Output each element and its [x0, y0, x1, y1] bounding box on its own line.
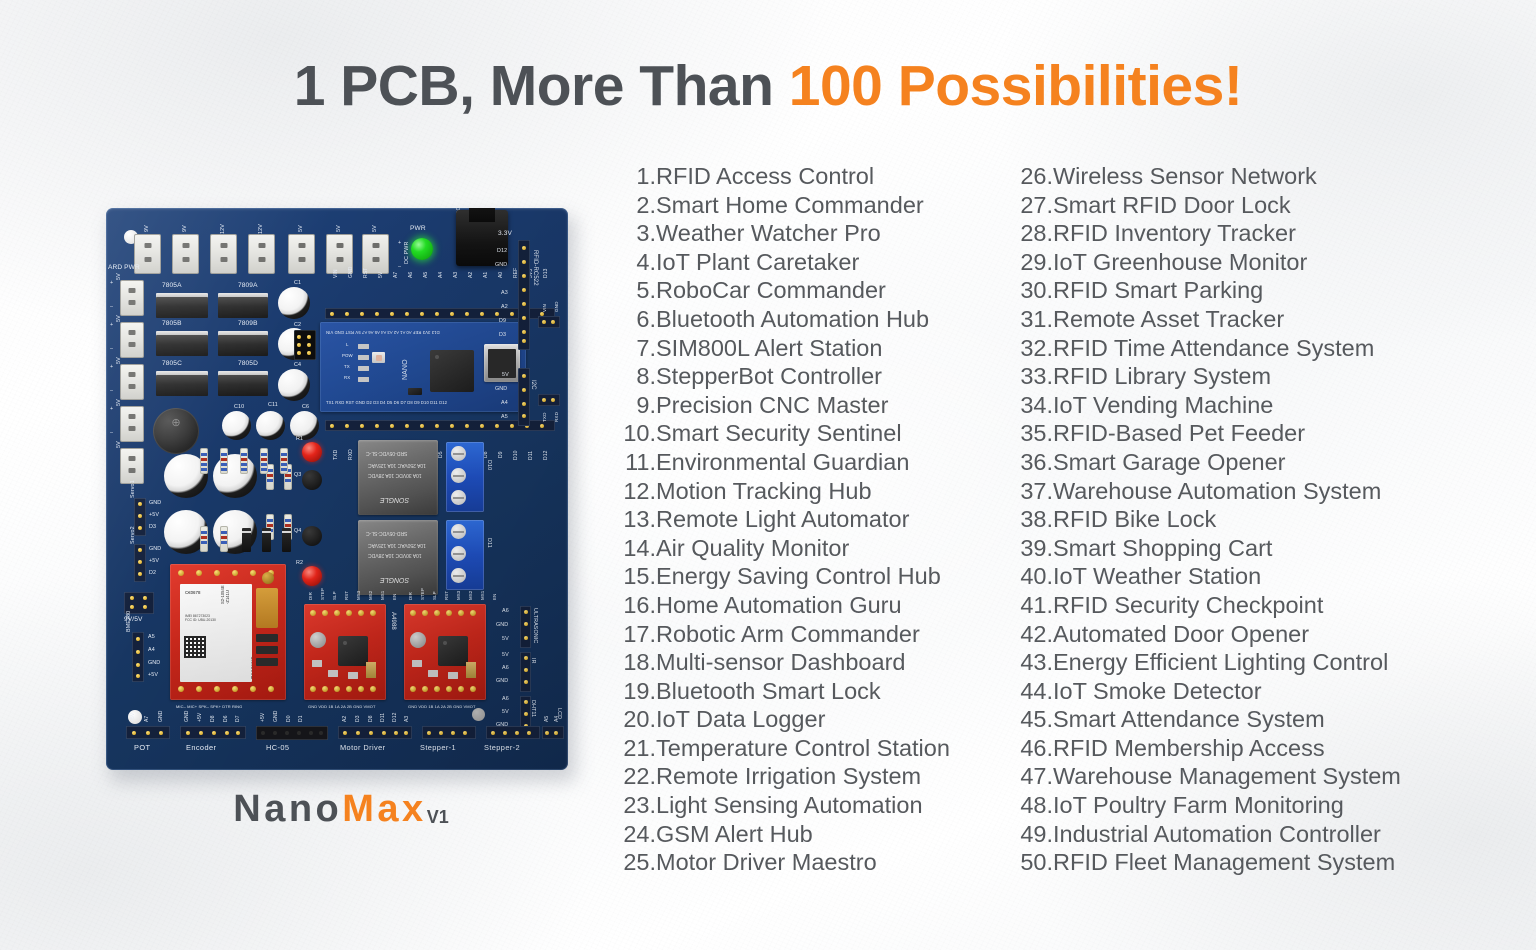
silk-txd: TXD: [542, 413, 547, 423]
list-item-label: Energy Efficient Lighting Control: [1053, 648, 1388, 677]
title-part-orange: 100 Possibilities!: [789, 54, 1243, 118]
silk-ms2: MS2: [368, 591, 373, 600]
silk-servo1: Servo1: [130, 480, 136, 498]
silk-stepper-1: Stepper-1: [420, 743, 456, 752]
list-item-label: Temperature Control Station: [656, 734, 950, 763]
list-item-label: Wireless Sensor Network: [1053, 162, 1317, 191]
pin-header-txd-rxd: [538, 394, 560, 406]
silk-a7: A7: [144, 716, 150, 722]
pin-header-motor-driver[interactable]: [338, 726, 412, 739]
list-item-label: Remote Light Automator: [656, 505, 909, 534]
dc-power-jack: [456, 210, 508, 266]
silk-d10: D10: [513, 451, 519, 460]
list-item-label: IoT Smoke Detector: [1053, 677, 1262, 706]
list-item: 9.Precision CNC Master: [612, 391, 962, 420]
jumper-block[interactable]: [294, 330, 316, 360]
list-item-number: 20.: [612, 705, 656, 734]
pin-header-i2c[interactable]: [518, 368, 530, 426]
relay-brand: SONGLE: [380, 576, 409, 583]
list-item-label: RFID Fleet Management System: [1053, 848, 1395, 877]
list-item-label: RFID Smart Parking: [1053, 276, 1263, 305]
list-item-label: IoT Data Logger: [656, 705, 825, 734]
silk-5v: 5V: [372, 225, 378, 232]
silk-ir: IR: [530, 658, 536, 664]
list-item: 5.RoboCar Commander: [612, 276, 962, 305]
list-item: 2.Smart Home Commander: [612, 191, 962, 220]
silk-d5: D5: [438, 451, 444, 458]
pin-header-stepper-2[interactable]: [486, 726, 540, 739]
silk-a2: A2: [501, 304, 508, 310]
list-item: 27.Smart RFID Door Lock: [1009, 191, 1359, 220]
silk-sim-pins: MIC– MIC+ SPK– SPK+ DTR RING: [176, 704, 242, 709]
silk-d9: D9: [498, 451, 504, 458]
voltage-regulator: [218, 335, 268, 356]
silk-led-tx: TX: [344, 364, 350, 369]
silk-vin: VIN: [333, 269, 339, 278]
list-item-number: 9.: [612, 391, 656, 420]
silk-en: EN: [492, 594, 497, 600]
silk-a5: A5: [544, 716, 550, 722]
list-item: 16.Home Automation Guru: [612, 591, 962, 620]
list-item-number: 36.: [1009, 448, 1053, 477]
silk-encoder: Encoder: [186, 743, 216, 752]
list-item-label: IoT Vending Machine: [1053, 391, 1273, 420]
silk-stepper-bottom-1: GND VDD 1B 1A 2A 2B GND VMOT: [308, 704, 376, 709]
list-item-label: Bluetooth Automation Hub: [656, 305, 929, 334]
pcb-board-image: 9V 9V 12V 12V 5V 5V 5V ARD PWR PWR DC PW…: [106, 208, 576, 783]
silk-i2c: I2C: [530, 380, 536, 390]
silk-5v: +5V: [260, 713, 266, 722]
list-item: 46.RFID Membership Access: [1009, 734, 1359, 763]
list-item-number: 6.: [612, 305, 656, 334]
terminal-block: [172, 234, 199, 274]
list-item-number: 8.: [612, 362, 656, 391]
silk-c1: C1: [294, 280, 301, 286]
silk-d3: D3: [355, 715, 361, 722]
sim800l-label: C€0678 S2-1054E-Z141U SIM800L IMEI 86727…: [180, 584, 252, 682]
list-item: 28.RFID Inventory Tracker: [1009, 219, 1359, 248]
silk-slp: SLP: [432, 591, 437, 600]
arduino-nano-module: NANO L POW TX RX TX1 RXD RST GND D2 D3 D…: [320, 322, 526, 412]
relay-module: SRD-05VDC-SL-C 10A 250VAC 10A 125VAC 10A…: [358, 440, 438, 515]
list-item: 39.Smart Shopping Cart: [1009, 534, 1359, 563]
silk-gnd: GND: [495, 262, 507, 268]
terminal-block: [120, 448, 144, 484]
silk-plus: +: [110, 280, 113, 286]
silk-d11: D11: [380, 713, 386, 722]
list-item-number: 28.: [1009, 219, 1053, 248]
list-item-label: Precision CNC Master: [656, 391, 888, 420]
silk-gnd: GND: [149, 500, 161, 506]
pin-header-servo2[interactable]: [134, 544, 146, 582]
silk-d3: D3: [149, 524, 156, 530]
list-item-number: 18.: [612, 648, 656, 677]
silk-gnd: GND: [348, 267, 354, 278]
list-item-number: 50.: [1009, 848, 1053, 877]
silk-ms3: MS3: [456, 591, 461, 600]
silk-en: EN: [392, 594, 397, 600]
list-item-label: RFID Bike Lock: [1053, 505, 1216, 534]
list-item-label: Home Automation Guru: [656, 591, 902, 620]
silk-12v: 12V: [220, 224, 226, 234]
sim-id-text: S2-1054E-Z141U: [220, 585, 230, 604]
sim800l-name: SIM800L: [250, 656, 252, 679]
silk-bme280: BME280: [126, 611, 132, 632]
relay-text: 10A 250VAC 10A 125VAC: [368, 542, 426, 548]
silk-a6: A6: [408, 272, 414, 278]
relay-text: SRD-05VDC-SL-C: [366, 530, 407, 536]
list-item: 15.Energy Saving Control Hub: [612, 562, 962, 591]
silk-5v: 5V: [116, 315, 122, 322]
list-item: 12.Motion Tracking Hub: [612, 477, 962, 506]
relay-module: SRD-05VDC-SL-C 10A 250VAC 10A 125VAC 10A…: [358, 520, 438, 595]
list-item: 41.RFID Security Checkpoint: [1009, 591, 1359, 620]
list-item: 47.Warehouse Management System: [1009, 762, 1359, 791]
silk-r2: R2: [296, 560, 303, 566]
silk-led-pow: POW: [342, 353, 353, 358]
pin-header-stepper-1[interactable]: [422, 726, 476, 739]
silk-5v: 5V: [502, 372, 509, 378]
list-item-number: 29.: [1009, 248, 1053, 277]
list-item-label: Energy Saving Control Hub: [656, 562, 941, 591]
terminal-block: [210, 234, 237, 274]
list-item-number: 37.: [1009, 477, 1053, 506]
list-item: 36.Smart Garage Opener: [1009, 448, 1359, 477]
list-item: 33.RFID Library System: [1009, 362, 1359, 391]
list-item-label: Weather Watcher Pro: [656, 219, 881, 248]
silk-a1: A1: [483, 272, 489, 278]
list-item-label: SIM800L Alert Station: [656, 334, 882, 363]
silk-gnd: GND: [158, 711, 164, 722]
silk-minus: –: [398, 264, 401, 270]
list-item-label: Environmental Guardian: [656, 448, 909, 477]
list-item-number: 1.: [612, 162, 656, 191]
silk-plus: +: [110, 406, 113, 412]
pin-header-rfid-rc522[interactable]: [518, 240, 530, 350]
silk-5v: +5V: [197, 713, 203, 722]
silk-d3: D3: [499, 332, 506, 338]
list-item-label: RFID Security Checkpoint: [1053, 591, 1323, 620]
silk-vin: VIN: [542, 304, 547, 312]
relay-text: 10A 250VAC 10A 125VAC: [368, 462, 426, 468]
pin-header-lcd[interactable]: [542, 726, 564, 739]
silk-d11: D11: [528, 451, 534, 460]
list-item: 3.Weather Watcher Pro: [612, 219, 962, 248]
silk-gnd: GND: [496, 622, 508, 628]
page-title: 1 PCB, More Than 100 Possibilities!: [0, 55, 1536, 118]
screw-terminal-d11: [446, 520, 484, 590]
silk-c4: C4: [294, 362, 301, 368]
silk-d10: D10: [486, 460, 492, 470]
buzzer: [153, 408, 199, 454]
list-item: 19.Bluetooth Smart Lock: [612, 677, 962, 706]
silk-a3: A3: [404, 716, 410, 722]
silk-a4: A4: [438, 272, 444, 278]
terminal-block: [120, 364, 144, 400]
silk-rxd: RXD: [348, 449, 354, 460]
list-item-label: Remote Asset Tracker: [1053, 305, 1284, 334]
list-item: 6.Bluetooth Automation Hub: [612, 305, 962, 334]
silk-lcd: LCD: [556, 708, 562, 719]
list-item-number: 15.: [612, 562, 656, 591]
silk-7809b: 7809B: [238, 320, 258, 327]
silk-plus: +: [398, 240, 401, 246]
list-item-number: 32.: [1009, 334, 1053, 363]
silk-33v: 3.3V: [498, 230, 512, 237]
brand-nano: Nano: [233, 788, 342, 830]
pin-header-encoder[interactable]: [180, 726, 246, 739]
list-item-number: 40.: [1009, 562, 1053, 591]
list-item: 23.Light Sensing Automation: [612, 791, 962, 820]
sim-cert-text: C€0678: [185, 590, 200, 595]
silk-a6: A6: [502, 665, 509, 671]
silk-a5: A5: [423, 272, 429, 278]
voltage-regulator: [156, 375, 208, 396]
list-item: 20.IoT Data Logger: [612, 705, 962, 734]
list-item: 44.IoT Smoke Detector: [1009, 677, 1359, 706]
silk-nano-bottom-pins: TX1 RXD RST GND D2 D3 D4 D5 D6 D7 D8 D9 …: [326, 400, 447, 405]
silk-d12: D12: [392, 713, 398, 722]
list-item: 25.Motor Driver Maestro: [612, 848, 962, 877]
silk-motor-driver: Motor Driver: [340, 743, 385, 752]
silk-ms2: MS2: [468, 591, 473, 600]
voltage-regulator: [218, 375, 268, 396]
list-item-label: Bluetooth Smart Lock: [656, 677, 881, 706]
list-item: 45.Smart Attendance System: [1009, 705, 1359, 734]
silk-a3: A3: [453, 272, 459, 278]
silk-rfid-rc522: RFID-RC522: [532, 250, 538, 286]
silk-slp: SLP: [332, 591, 337, 600]
list-item-number: 31.: [1009, 305, 1053, 334]
list-item-number: 43.: [1009, 648, 1053, 677]
list-item-number: 21.: [612, 734, 656, 763]
silk-gnd: GND: [495, 386, 507, 392]
list-item: 50.RFID Fleet Management System: [1009, 848, 1359, 877]
list-item: 37.Warehouse Automation System: [1009, 477, 1359, 506]
silk-q3: Q3: [294, 472, 301, 478]
silk-d0: D0: [286, 715, 292, 722]
silk-5v: 5V: [378, 272, 384, 278]
list-item: 49.Industrial Automation Controller: [1009, 820, 1359, 849]
pin-header-bme280[interactable]: [132, 632, 144, 682]
silk-nano-top-pins: D13 3V3 REF A0 A1 A2 A3 A4 A5 A6 A7 5V R…: [326, 330, 440, 335]
list-item-label: Warehouse Management System: [1053, 762, 1401, 791]
relay-indicator-led: [302, 442, 322, 462]
list-item: 4.IoT Plant Caretaker: [612, 248, 962, 277]
silk-gnd: GND: [149, 546, 161, 552]
atmega-chip: [430, 350, 474, 392]
relay-text: SRD-05VDC-SL-C: [366, 450, 407, 456]
silk-ms3: MS3: [356, 591, 361, 600]
silk-5v: 5V: [116, 399, 122, 406]
silk-5v: 5V: [336, 225, 342, 232]
silk-5v: 5V: [116, 273, 122, 280]
pin-header-hc05[interactable]: [256, 726, 328, 740]
silk-a0: A0: [498, 272, 504, 278]
list-item: 22.Remote Irrigation System: [612, 762, 962, 791]
silk-5v: 5V: [502, 652, 509, 658]
list-item-number: 42.: [1009, 620, 1053, 649]
silk-led-l: L: [346, 342, 349, 347]
list-item-label: RFID Access Control: [656, 162, 874, 191]
brand-version: V1: [427, 807, 449, 827]
list-item-label: Smart Home Commander: [656, 191, 924, 220]
silk-7805c: 7805C: [162, 360, 182, 367]
list-item-number: 26.: [1009, 162, 1053, 191]
list-item: 26. Wireless Sensor Network: [1009, 162, 1359, 191]
silk-stepper-2: Stepper-2: [484, 743, 520, 752]
silk-gnd: GND: [554, 301, 559, 312]
mounting-hole: [472, 708, 485, 721]
silk-a3: A3: [501, 290, 508, 296]
silk-5v: 5V: [298, 225, 304, 232]
silk-d13: D13: [543, 269, 549, 278]
silk-a6: A6: [502, 696, 509, 702]
silk-5v: 5V: [116, 441, 122, 448]
silk-d1: D1: [298, 715, 304, 722]
sim800l-module: C€0678 S2-1054E-Z141U SIM800L IMEI 86727…: [170, 564, 286, 700]
silk-q4: Q4: [294, 528, 301, 534]
silk-stepper-bottom-2: GND VDD 1B 1A 2A 2B GND VMOT: [408, 704, 476, 709]
list-item-label: IoT Weather Station: [1053, 562, 1261, 591]
list-item-label: Smart Security Sentinel: [656, 419, 902, 448]
sim-screw: [262, 572, 274, 584]
list-item-number: 27.: [1009, 191, 1053, 220]
list-column-right: 26. Wireless Sensor Network27.Smart RFID…: [1009, 162, 1359, 877]
list-item: 48.IoT Poultry Farm Monitoring: [1009, 791, 1359, 820]
list-item-number: 10.: [612, 419, 656, 448]
silk-7805b: 7805B: [162, 320, 182, 327]
power-led: [411, 238, 433, 260]
terminal-block: [120, 280, 144, 316]
silk-5v: +5V: [148, 672, 158, 678]
silk-pwr: PWR: [410, 225, 426, 232]
silk-a4: A4: [501, 400, 508, 406]
pcb-board: 9V 9V 12V 12V 5V 5V 5V ARD PWR PWR DC PW…: [106, 208, 568, 770]
list-item-number: 39.: [1009, 534, 1053, 563]
pin-header-pot[interactable]: [126, 726, 170, 739]
list-item-number: 30.: [1009, 276, 1053, 305]
list-item: 29.IoT Greenhouse Monitor: [1009, 248, 1359, 277]
list-item-number: 35.: [1009, 419, 1053, 448]
list-item-number: 34.: [1009, 391, 1053, 420]
list-item-number: 2.: [612, 191, 656, 220]
silk-d12: D12: [497, 248, 507, 254]
list-item-number: 11.: [612, 448, 656, 477]
silk-7805a: 7805A: [162, 282, 182, 289]
list-item: 10.Smart Security Sentinel: [612, 419, 962, 448]
silk-d6: D6: [223, 715, 229, 722]
silk-hc05: HC-05: [266, 743, 289, 752]
list-item-label: Multi-sensor Dashboard: [656, 648, 905, 677]
list-item-number: 16.: [612, 591, 656, 620]
silk-5v: 5V: [116, 357, 122, 364]
silk-5v: 5V: [502, 636, 509, 642]
list-item: 18.Multi-sensor Dashboard: [612, 648, 962, 677]
silk-minus: –: [110, 388, 113, 394]
list-item-number: 17.: [612, 620, 656, 649]
list-item-number: 14.: [612, 534, 656, 563]
silk-r1: R1: [296, 436, 303, 442]
reset-button[interactable]: [372, 352, 385, 363]
list-item: 32.RFID Time Attendance System: [1009, 334, 1359, 363]
screw-terminal-d10: [446, 442, 484, 512]
relay-text: 10A 30VDC 10A 28VDC: [368, 472, 422, 478]
a4988-chip: [438, 636, 468, 666]
electrolytic-capacitor: [222, 411, 251, 440]
list-item: 14.Air Quality Monitor: [612, 534, 962, 563]
terminal-block: [288, 234, 315, 274]
a4988-stepper-driver-2: [404, 604, 486, 700]
silk-rst: RST: [363, 268, 369, 278]
list-item-number: 25.: [612, 848, 656, 877]
silk-ultrasonic: ULTRASONIC: [532, 608, 538, 643]
terminal-block: [120, 322, 144, 358]
silk-5v: +5V: [130, 713, 136, 722]
list-item: 11.Environmental Guardian: [612, 448, 962, 477]
list-item-label: RFID Inventory Tracker: [1053, 219, 1296, 248]
silk-5v: 5V: [502, 709, 509, 715]
list-item-label: Smart Garage Opener: [1053, 448, 1286, 477]
silk-d7: D7: [235, 715, 241, 722]
current-trimpot[interactable]: [310, 632, 326, 648]
silk-5v: +5V: [149, 558, 159, 564]
list-item-label: Smart RFID Door Lock: [1053, 191, 1291, 220]
silk-7809a: 7809A: [238, 282, 258, 289]
silk-9v: 9V: [182, 225, 188, 232]
list-item: 43.Energy Efficient Lighting Control: [1009, 648, 1359, 677]
list-item-label: Robotic Arm Commander: [656, 620, 920, 649]
terminal-block: [248, 234, 275, 274]
list-item-number: 41.: [1009, 591, 1053, 620]
list-item: 1.RFID Access Control: [612, 162, 962, 191]
silk-gnd: GND: [273, 711, 279, 722]
silk-a7: A7: [393, 272, 399, 278]
list-item-number: 49.: [1009, 820, 1053, 849]
list-item: 8.StepperBot Controller: [612, 362, 962, 391]
current-trimpot[interactable]: [410, 632, 426, 648]
transistor-q4: [302, 526, 322, 546]
list-item-label: IoT Greenhouse Monitor: [1053, 248, 1307, 277]
electrolytic-capacitor: [256, 411, 285, 440]
list-item-label: StepperBot Controller: [656, 362, 882, 391]
silk-led-rx: RX: [344, 375, 350, 380]
list-item-number: 13.: [612, 505, 656, 534]
brand-max: Max: [342, 788, 426, 830]
silk-ms1: MS1: [480, 591, 485, 600]
list-item: 38.RFID Bike Lock: [1009, 505, 1359, 534]
list-item-number: 33.: [1009, 362, 1053, 391]
silk-rxd: RXD: [554, 412, 559, 422]
list-item-label: Light Sensing Automation: [656, 791, 923, 820]
list-item-number: 22.: [612, 762, 656, 791]
possibilities-list: 1.RFID Access Control2.Smart Home Comman…: [612, 162, 1382, 877]
list-item-label: Motion Tracking Hub: [656, 477, 872, 506]
list-item: 17.Robotic Arm Commander: [612, 620, 962, 649]
silk-nano: NANO: [402, 359, 409, 380]
qr-code: [184, 636, 206, 658]
list-item-label: GSM Alert Hub: [656, 820, 813, 849]
pin-header-ultrasonic[interactable]: [520, 606, 531, 648]
list-item-number: 7.: [612, 334, 656, 363]
sim-antenna-cap: [256, 588, 278, 628]
silk-c11: C11: [268, 402, 278, 408]
brand-logo: NanoMaxV1: [106, 788, 576, 831]
silk-d11: D11: [486, 538, 492, 548]
sim-fcc-text: IMEI 867273023FCC ID: UBU-20130: [185, 614, 245, 623]
voltage-regulator: [156, 297, 208, 318]
silk-a5: A5: [148, 634, 155, 640]
